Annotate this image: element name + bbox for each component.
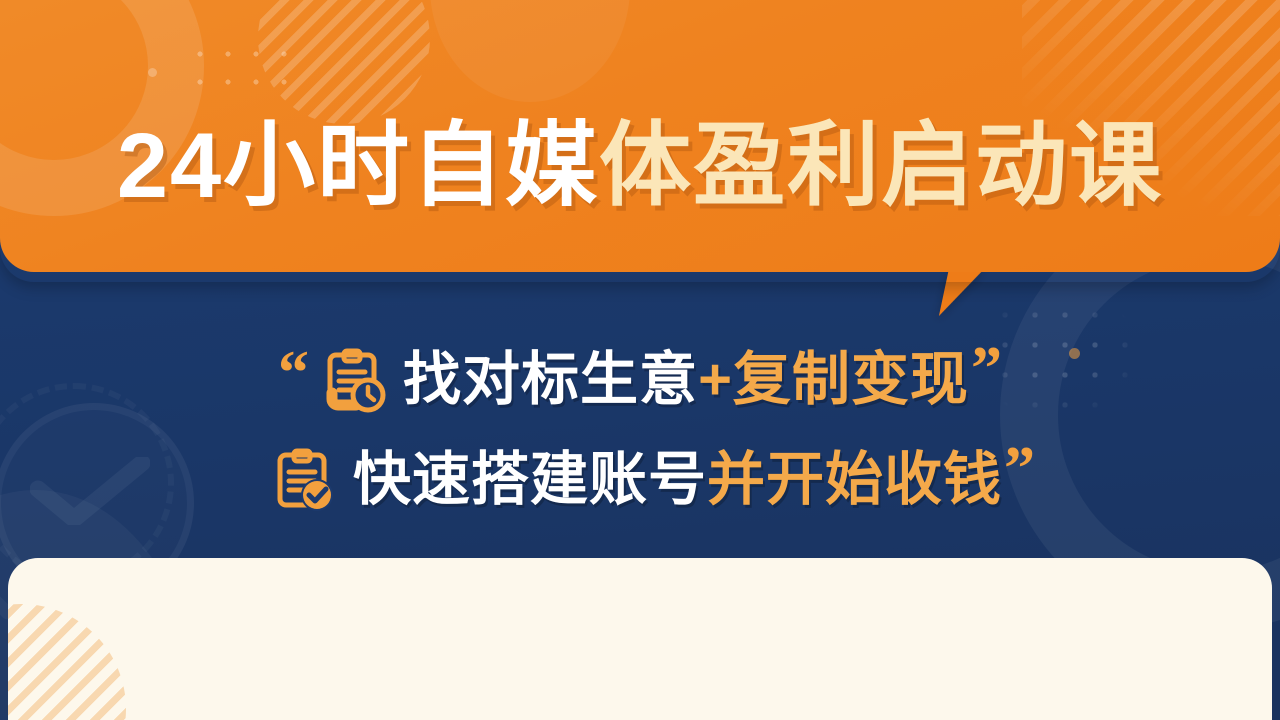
page-title: 24小时自媒体盈利启动课 [0, 120, 1280, 212]
subtitle-block: “ 找对标生意 +复制变现 ” [0, 330, 1280, 530]
subtitle-line-1-primary: 找对标生意 [403, 351, 698, 409]
subtitle-line-1: “ 找对标生意 +复制变现 ” [0, 330, 1280, 430]
subtitle-line-1-accent: +复制变现 [698, 351, 969, 409]
clipboard-clock-icon [317, 345, 387, 415]
speech-bubble-tail [939, 268, 1007, 316]
banner-soft-circle-decoration [430, 0, 630, 102]
page-title-accent: 体盈利启动课 [599, 115, 1163, 217]
promo-poster: 24小时自媒体盈利启动课 “ 找对标生意 +复制变现 ” [0, 0, 1280, 720]
subtitle-line-2-primary: 快速搭建账号 [353, 451, 707, 509]
close-quote-mark-1: ” [971, 338, 1002, 400]
subtitle-line-2: 快速搭建账号 并开始收钱 ” [0, 430, 1280, 530]
banner-small-dot-decoration [148, 68, 157, 77]
open-quote-mark: “ [278, 342, 309, 404]
banner-dot-grid-decoration [186, 40, 306, 106]
clipboard-check-icon [267, 445, 337, 515]
subtitle-line-2-accent: 并开始收钱 [707, 451, 1002, 509]
close-quote-mark-2: ” [1004, 438, 1035, 500]
card-striped-circle-decoration [8, 604, 126, 720]
bottom-content-card [8, 558, 1272, 720]
page-title-primary: 24小时自媒 [117, 115, 599, 217]
